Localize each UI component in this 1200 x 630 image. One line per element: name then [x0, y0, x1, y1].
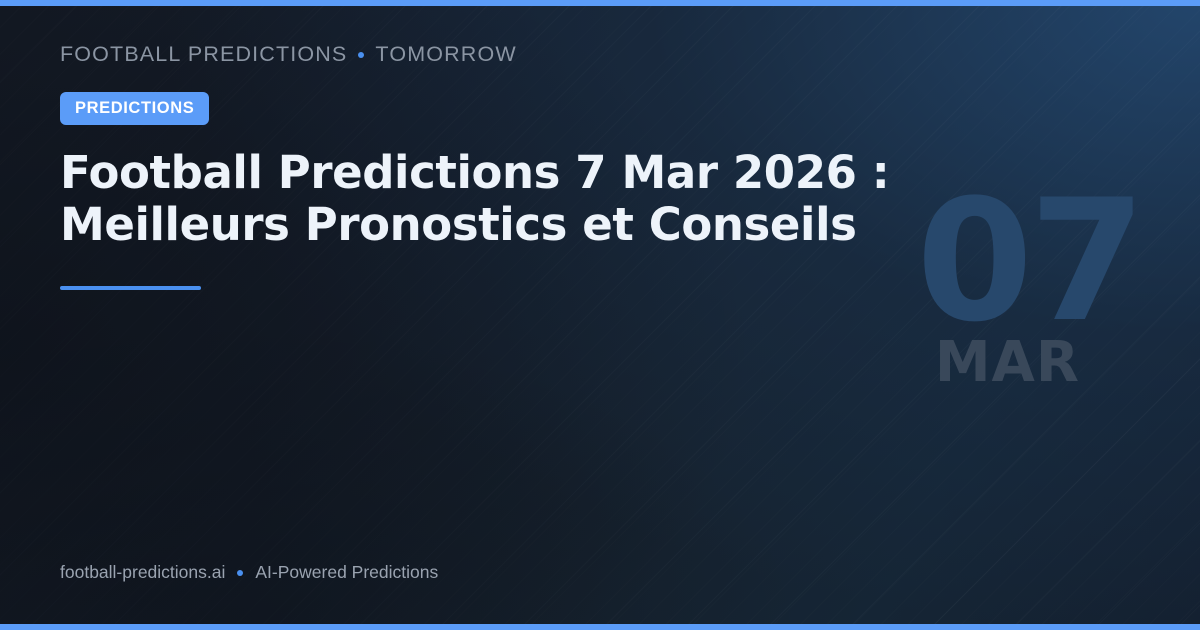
bullet-dot-icon: [358, 52, 364, 58]
eyebrow-category: FOOTBALL PREDICTIONS: [60, 42, 347, 68]
eyebrow-timeframe: TOMORROW: [375, 42, 516, 68]
top-accent-bar: [0, 0, 1200, 6]
predictions-badge: PREDICTIONS: [60, 92, 209, 126]
footer-site: football-predictions.ai: [60, 562, 225, 583]
eyebrow: FOOTBALL PREDICTIONS TOMORROW: [60, 42, 940, 68]
date-day: 07: [916, 196, 1142, 327]
date-watermark: 07 MAR: [916, 196, 1142, 391]
date-month: MAR: [916, 335, 1080, 391]
footer: football-predictions.ai AI-Powered Predi…: [60, 562, 438, 583]
page-title: Football Predictions 7 Mar 2026 : Meille…: [60, 147, 920, 251]
bullet-dot-icon: [237, 570, 243, 576]
footer-tagline: AI-Powered Predictions: [255, 562, 438, 583]
og-share-card: 07 MAR FOOTBALL PREDICTIONS TOMORROW PRE…: [0, 0, 1200, 630]
card-content: FOOTBALL PREDICTIONS TOMORROW PREDICTION…: [60, 42, 940, 290]
bottom-accent-bar: [0, 624, 1200, 630]
accent-divider: [60, 286, 201, 290]
